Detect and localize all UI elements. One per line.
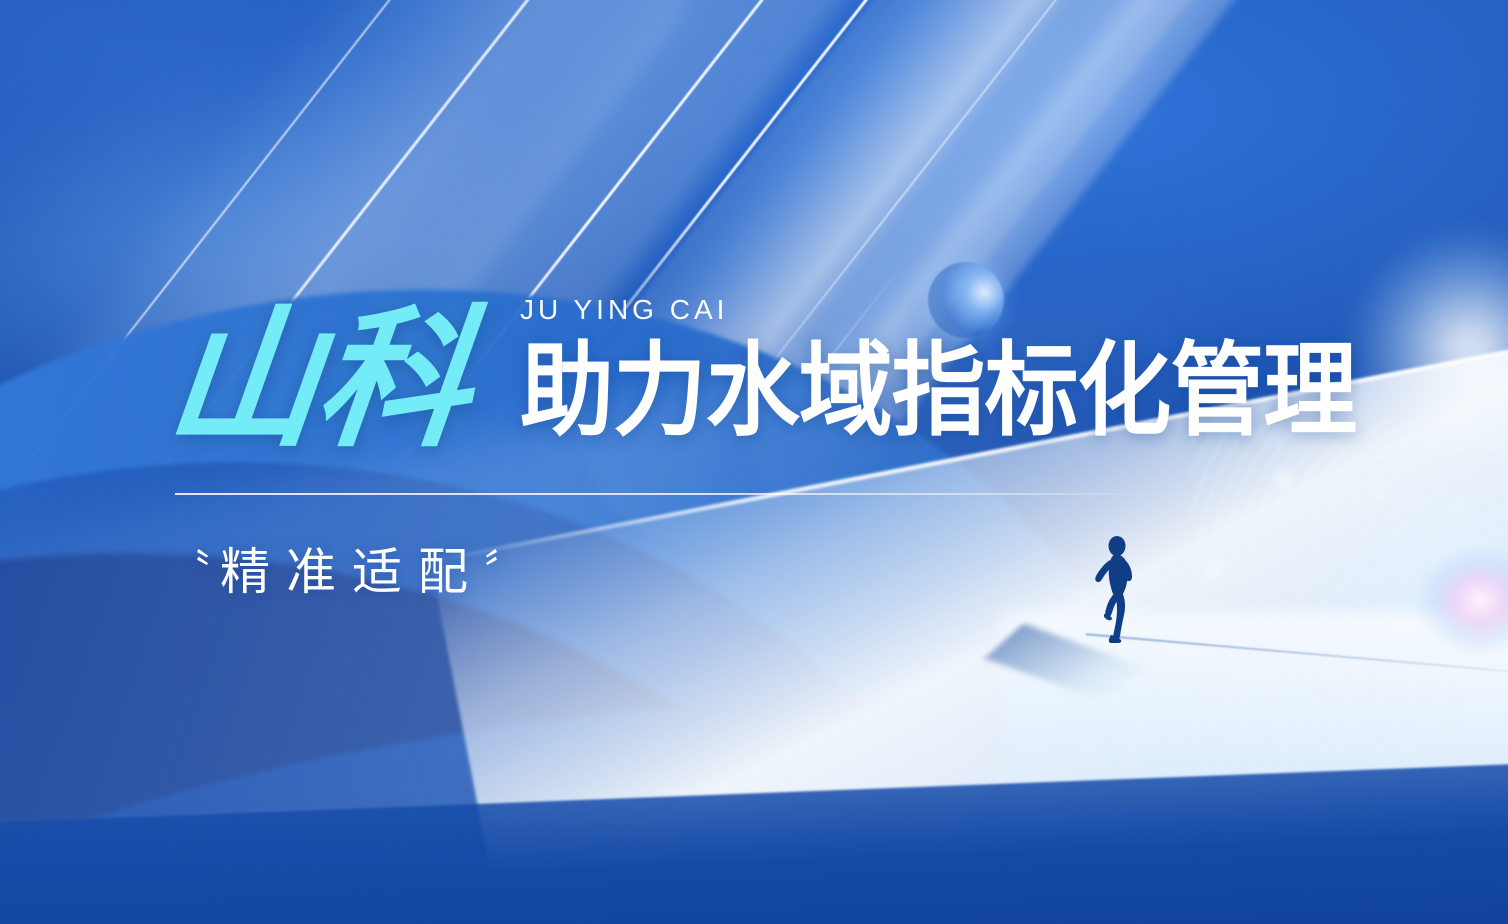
tagline: 〝精准适配〞 xyxy=(170,542,534,602)
tagline-text: 精准适配 xyxy=(220,544,484,600)
brand-logo-text: 山科 xyxy=(160,304,476,456)
headline-text: 助力水域指标化管理 xyxy=(520,340,1356,442)
tagline-open-quote: 〝 xyxy=(170,548,220,592)
brand-pinyin: JU YING CAI xyxy=(520,296,1429,324)
headline-block: JU YING CAI 助力水域指标化管理 xyxy=(520,296,1429,442)
horizontal-divider xyxy=(175,493,1155,495)
banner-content: 山科 JU YING CAI 助力水域指标化管理 〝精准适配〞 xyxy=(0,0,1508,924)
tagline-close-quote: 〞 xyxy=(484,548,534,592)
brand-lockup: 山科 xyxy=(168,296,468,456)
promotional-banner: 山科 JU YING CAI 助力水域指标化管理 〝精准适配〞 xyxy=(0,0,1508,924)
